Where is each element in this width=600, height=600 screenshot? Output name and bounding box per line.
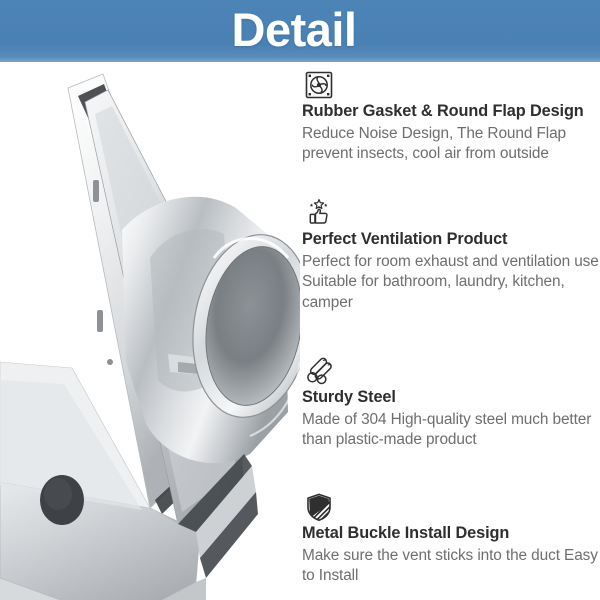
product-photo-wall-vent — [0, 62, 300, 600]
fan-icon — [304, 70, 334, 100]
feature-description: Make sure the vent sticks into the duct … — [302, 546, 600, 587]
feature-item-sturdy-steel: Sturdy Steel Made of 304 High-quality st… — [302, 356, 600, 451]
feature-description: Reduce Noise Design, The Round Flap prev… — [302, 124, 600, 165]
feature-item-perfect-ventilation: Perfect Ventilation Product Perfect for … — [302, 198, 600, 313]
header-banner: Detail — [0, 0, 600, 62]
product-detail-page: Detail — [0, 0, 600, 600]
feature-title: Metal Buckle Install Design — [302, 524, 600, 544]
feature-title: Perfect Ventilation Product — [302, 230, 600, 250]
feature-title: Rubber Gasket & Round Flap Design — [302, 102, 600, 122]
feature-list: Rubber Gasket & Round Flap Design Reduce… — [302, 62, 600, 600]
feature-item-rubber-gasket: Rubber Gasket & Round Flap Design Reduce… — [302, 70, 600, 165]
page-title: Detail — [232, 6, 357, 53]
feature-item-metal-buckle: Metal Buckle Install Design Make sure th… — [302, 492, 600, 587]
feature-title: Sturdy Steel — [302, 388, 600, 408]
shield-icon — [304, 492, 334, 522]
feature-description: Perfect for room exhaust and ventilation… — [302, 252, 600, 313]
steel-bars-icon — [304, 356, 334, 386]
feature-description: Made of 304 High-quality steel much bett… — [302, 410, 600, 451]
thumbs-up-stars-icon — [304, 198, 334, 228]
